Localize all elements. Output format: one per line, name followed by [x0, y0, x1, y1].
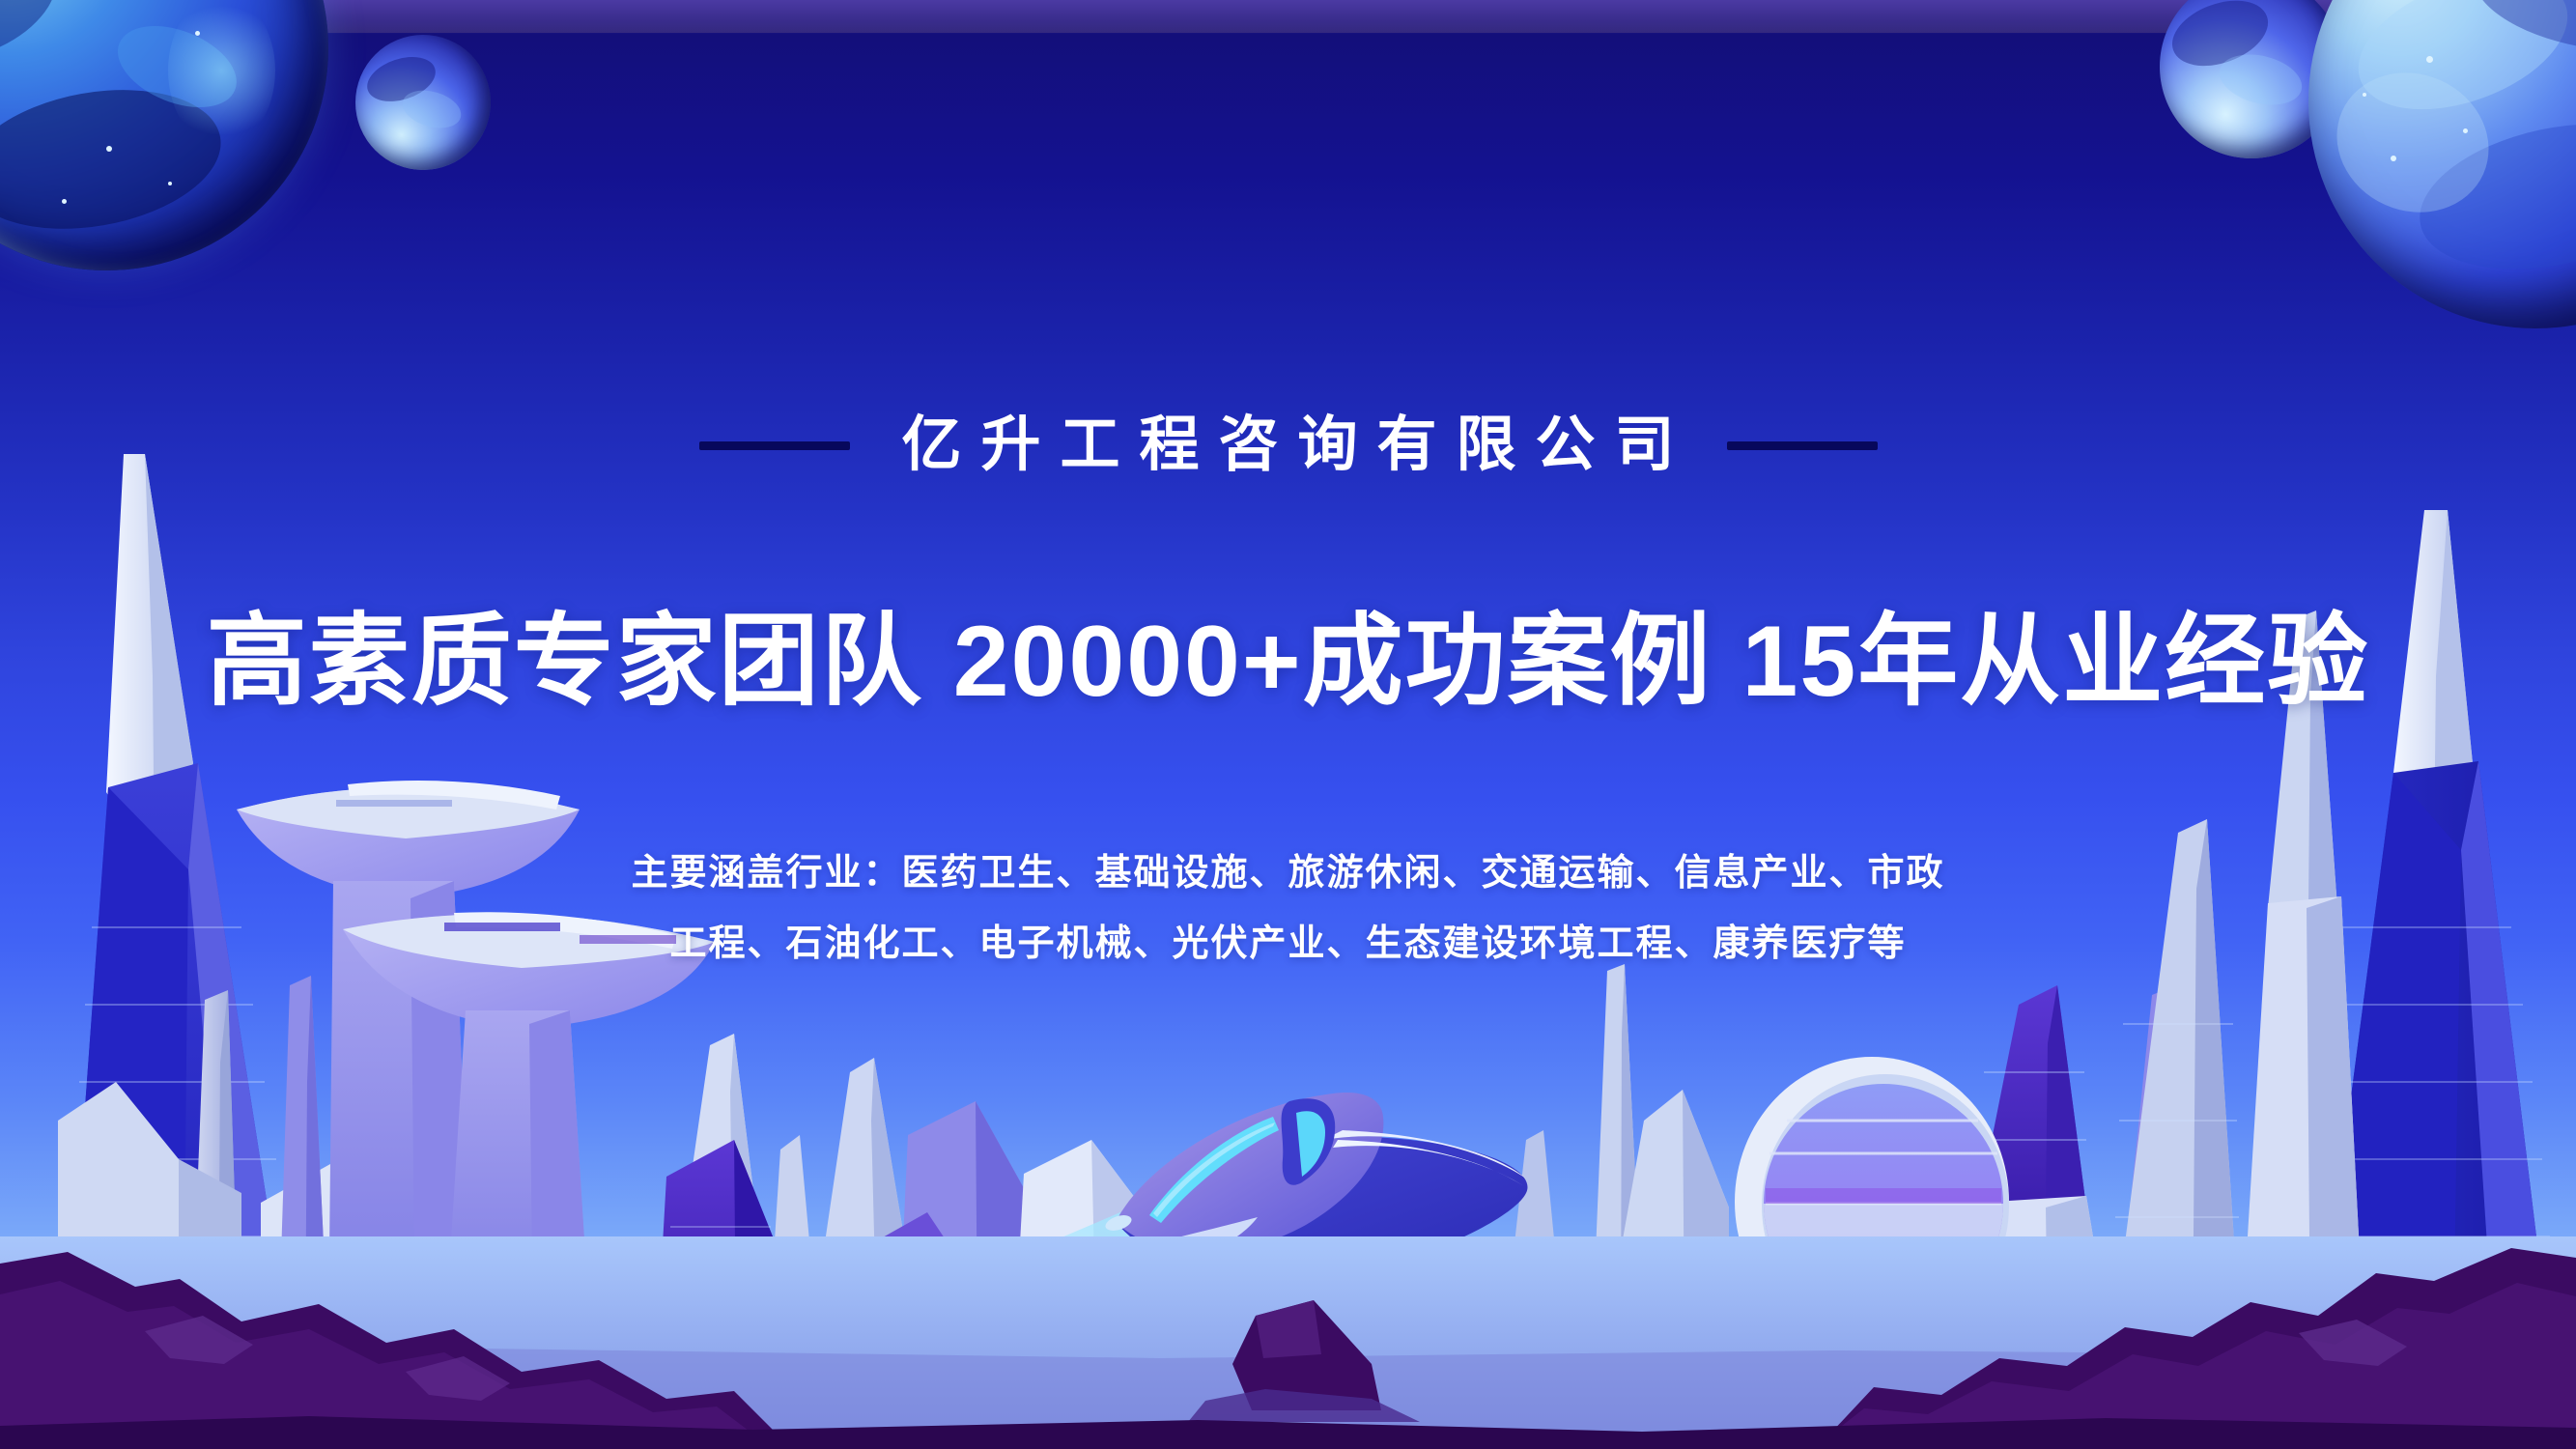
city-skyline — [0, 0, 2576, 1449]
headline-text: 高素质专家团队 20000+成功案例 15年从业经验 — [207, 599, 2369, 724]
decorative-rule-right — [1727, 441, 1878, 450]
company-name: 亿升工程咨询有限公司 — [882, 415, 1693, 475]
rocky-foreground — [0, 1236, 2576, 1449]
company-name-row: 亿升工程咨询有限公司 — [698, 415, 1877, 475]
futuristic-city-banner: 亿升工程咨询有限公司 高素质专家团队 20000+成功案例 15年从业经验 主要… — [0, 0, 2576, 1449]
subtitle-line-1: 主要涵盖行业：医药卫生、基础设施、旅游休闲、交通运输、信息产业、市政 — [631, 855, 1944, 892]
decorative-rule-left — [698, 441, 849, 450]
subtitle-line-2: 工程、石油化工、电子机械、光伏产业、生态建设环境工程、康养医疗等 — [669, 925, 1906, 962]
